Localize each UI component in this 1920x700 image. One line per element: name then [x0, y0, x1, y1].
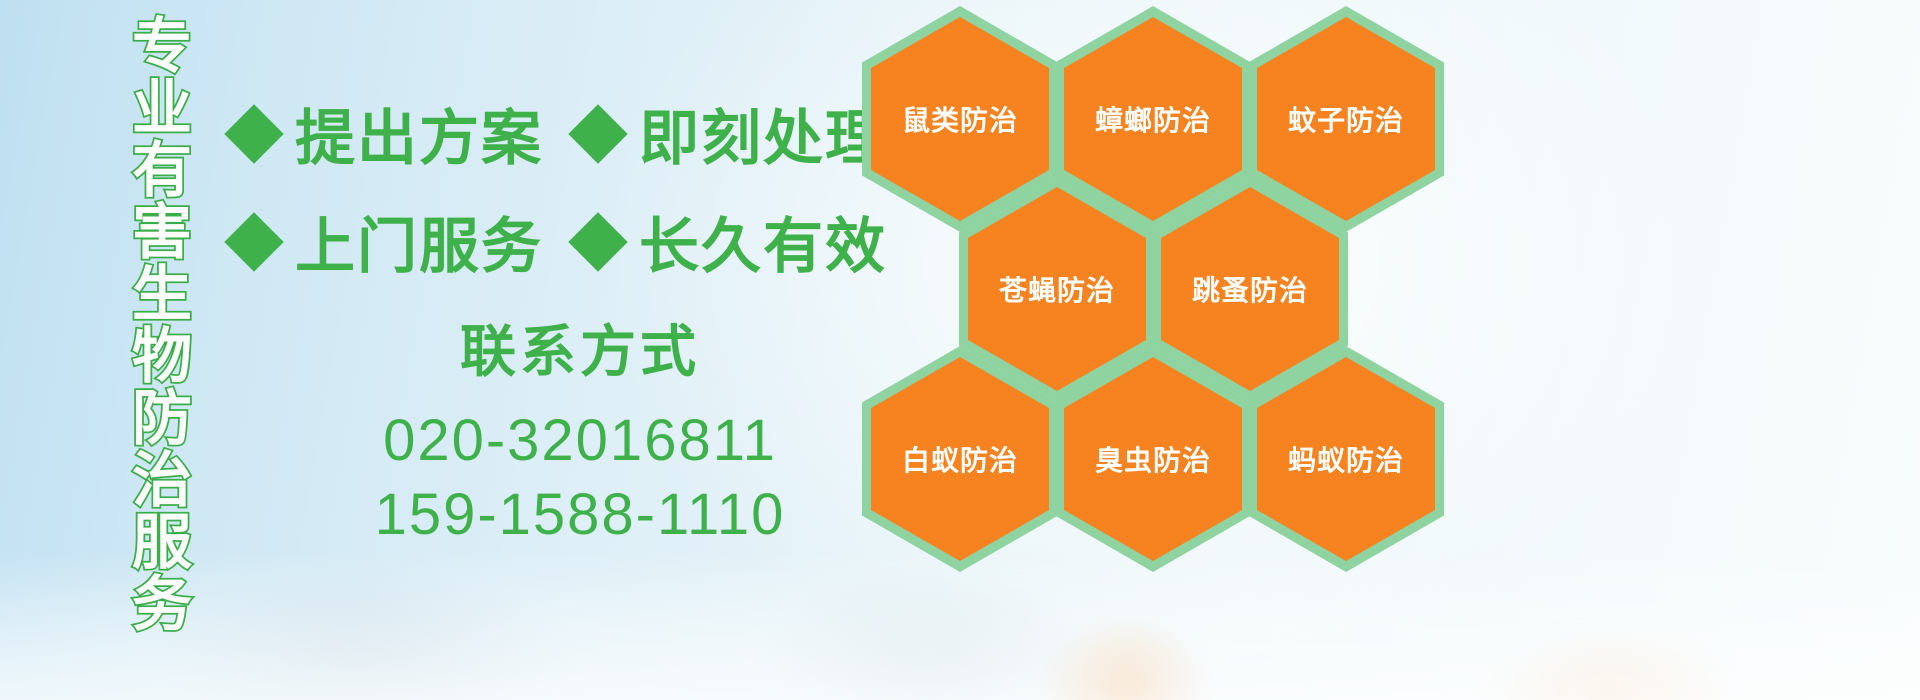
vertical-headline-char: 服 [132, 512, 192, 574]
vertical-headline-char: 专 [132, 16, 192, 78]
contact-title: 联系方式 [300, 318, 860, 388]
contact-block: 联系方式 020-32016811 159-1588-1110 [300, 318, 860, 552]
background-blur-middle [760, 570, 1100, 700]
hex-label: 蟑螂防治 [1095, 99, 1211, 139]
vertical-headline-char: 治 [132, 450, 192, 512]
diamond-icon [568, 212, 627, 271]
feature-label: 长久有效 [639, 198, 887, 285]
hex-label: 蚂蚁防治 [1288, 439, 1404, 479]
feature-label: 即刻处理 [639, 90, 887, 177]
hex-label: 蚊子防治 [1288, 99, 1404, 139]
honeycomb-grid: 鼠类防治 蟑螂防治 蚊子防治 苍蝇防治 跳蚤防治 白蚁防治 [856, 0, 1476, 570]
background-blur-orange [1040, 620, 1210, 700]
feature-label: 提出方案 [295, 90, 543, 177]
hex-label: 鼠类防治 [902, 99, 1018, 139]
hex-cell-bedbug[interactable]: 臭虫防治 [1055, 346, 1251, 572]
feature-label: 上门服务 [295, 198, 543, 285]
diamond-icon [224, 212, 283, 271]
vertical-headline-char: 有 [132, 140, 192, 202]
hex-label: 苍蝇防治 [999, 269, 1115, 309]
phone-landline[interactable]: 020-32016811 [300, 404, 860, 478]
vertical-headline-char: 物 [132, 326, 192, 388]
diamond-icon [568, 104, 627, 163]
background-blur-left [150, 570, 570, 700]
background-bottom-haze [0, 550, 1920, 700]
phone-mobile[interactable]: 159-1588-1110 [300, 478, 860, 552]
feature-row-2: 上门服务 长久有效 [233, 198, 887, 285]
vertical-headline-char: 业 [132, 78, 192, 140]
hex-cell-ant[interactable]: 蚂蚁防治 [1248, 346, 1444, 572]
hex-label: 臭虫防治 [1095, 439, 1211, 479]
diamond-icon [224, 104, 283, 163]
feature-row-1: 提出方案 即刻处理 [233, 90, 887, 177]
hex-label: 跳蚤防治 [1192, 269, 1308, 309]
vertical-headline-char: 害 [132, 202, 192, 264]
hex-label: 白蚁防治 [902, 439, 1018, 479]
promo-banner: 专 业 有 害 生 物 防 治 服 务 提出方案 即刻处理 上门服务 长久有效 … [0, 0, 1920, 700]
background-blur-orange-right [1480, 630, 1740, 700]
vertical-headline: 专 业 有 害 生 物 防 治 服 务 [106, 16, 218, 576]
hex-cell-termite[interactable]: 白蚁防治 [862, 346, 1058, 572]
vertical-headline-char: 生 [132, 264, 192, 326]
vertical-headline-char: 防 [132, 388, 192, 450]
vertical-headline-char: 务 [132, 574, 192, 636]
